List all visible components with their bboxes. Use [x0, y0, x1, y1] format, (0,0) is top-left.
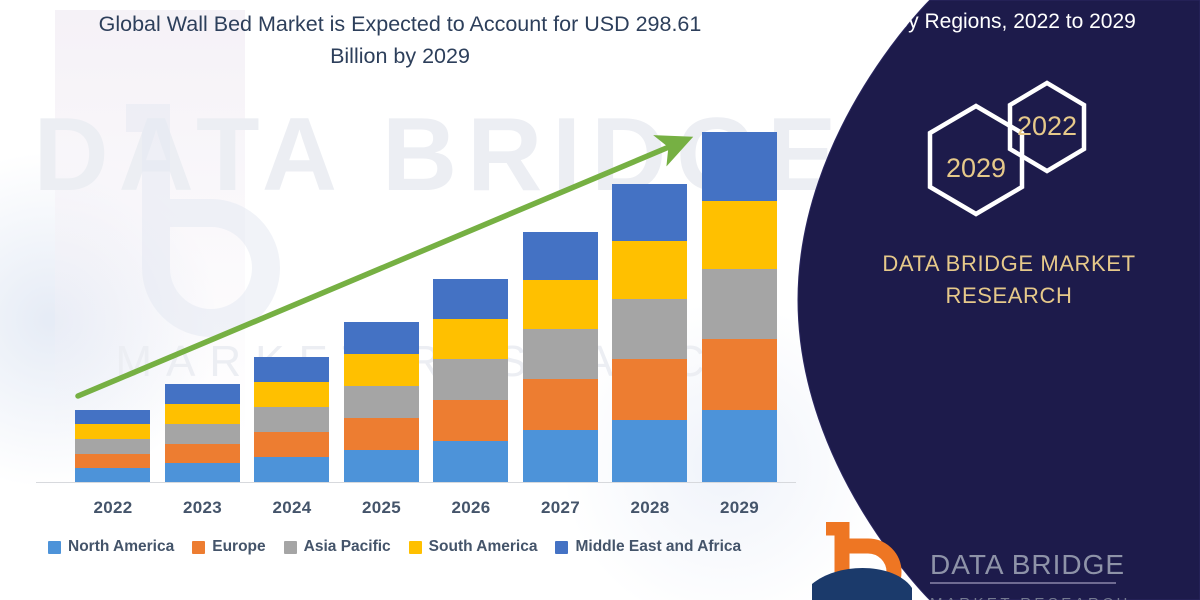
- legend-swatch-icon: [48, 541, 61, 554]
- legend-swatch-icon: [409, 541, 422, 554]
- bar-segment-europe[interactable]: [75, 454, 150, 468]
- bar-segment-europe[interactable]: [344, 418, 419, 450]
- bar-2028[interactable]: [612, 184, 687, 482]
- bar-segment-europe[interactable]: [523, 379, 598, 430]
- bar-2024[interactable]: [254, 357, 329, 482]
- bar-segment-europe[interactable]: [254, 432, 329, 457]
- bar-segment-europe[interactable]: [702, 339, 777, 410]
- legend-item-south-america[interactable]: South America: [409, 538, 538, 556]
- brand-name-line-2: RESEARCH: [826, 280, 1192, 312]
- bar-segment-north-america[interactable]: [344, 450, 419, 482]
- x-axis-label-2029: 2029: [685, 498, 795, 518]
- bar-2025[interactable]: [344, 322, 419, 482]
- bar-segment-south-america[interactable]: [702, 201, 777, 269]
- brand-panel: Global Wall Bed Market, By Regions, 2022…: [780, 0, 1200, 600]
- corner-logo-line-1: DATA BRIDGE: [930, 549, 1125, 580]
- bar-segment-europe[interactable]: [612, 359, 687, 420]
- bar-segment-middle-east-and-africa[interactable]: [75, 410, 150, 424]
- bar-segment-middle-east-and-africa[interactable]: [254, 357, 329, 382]
- legend-item-north-america[interactable]: North America: [48, 538, 174, 556]
- corner-logo: DATA BRIDGE MARKET RESEARCH: [808, 522, 1138, 600]
- legend-label: Europe: [212, 538, 265, 556]
- bar-segment-middle-east-and-africa[interactable]: [433, 279, 508, 319]
- bar-segment-middle-east-and-africa[interactable]: [523, 232, 598, 280]
- bar-segment-north-america[interactable]: [75, 468, 150, 482]
- bar-segment-asia-pacific[interactable]: [75, 439, 150, 454]
- bar-segment-asia-pacific[interactable]: [433, 359, 508, 400]
- bar-segment-asia-pacific[interactable]: [254, 407, 329, 432]
- bar-segment-middle-east-and-africa[interactable]: [702, 132, 777, 201]
- bar-segment-south-america[interactable]: [433, 319, 508, 359]
- brand-name: DATA BRIDGE MARKET RESEARCH: [826, 248, 1192, 312]
- bar-segment-middle-east-and-africa[interactable]: [612, 184, 687, 241]
- hexagon-large-label: 2029: [946, 153, 1006, 183]
- bar-2023[interactable]: [165, 384, 240, 482]
- legend-item-asia-pacific[interactable]: Asia Pacific: [284, 538, 391, 556]
- legend-swatch-icon: [284, 541, 297, 554]
- bar-segment-north-america[interactable]: [165, 463, 240, 482]
- bar-segment-asia-pacific[interactable]: [344, 386, 419, 418]
- logo-rule: [930, 582, 1116, 584]
- legend-label: Asia Pacific: [304, 538, 391, 556]
- brand-name-line-1: DATA BRIDGE MARKET: [826, 248, 1192, 280]
- legend-label: Middle East and Africa: [575, 538, 741, 556]
- bar-segment-north-america[interactable]: [612, 420, 687, 482]
- bar-segment-south-america[interactable]: [165, 404, 240, 424]
- hexagon-small-label: 2022: [1017, 111, 1077, 141]
- legend-swatch-icon: [555, 541, 568, 554]
- bar-segment-asia-pacific[interactable]: [702, 269, 777, 339]
- legend-label: South America: [429, 538, 538, 556]
- legend-item-europe[interactable]: Europe: [192, 538, 265, 556]
- bar-segment-north-america[interactable]: [523, 430, 598, 482]
- corner-logo-line-2: MARKET RESEARCH: [930, 595, 1131, 600]
- chart-plot-area: 20222023202420252026202720282029: [0, 0, 880, 600]
- bar-segment-asia-pacific[interactable]: [165, 424, 240, 444]
- bar-segment-asia-pacific[interactable]: [523, 329, 598, 379]
- bar-segment-north-america[interactable]: [254, 457, 329, 482]
- bar-segment-south-america[interactable]: [612, 241, 687, 299]
- bar-2029[interactable]: [702, 132, 777, 482]
- bar-2022[interactable]: [75, 410, 150, 482]
- bar-segment-north-america[interactable]: [702, 410, 777, 482]
- bar-segment-europe[interactable]: [165, 444, 240, 463]
- bar-segment-south-america[interactable]: [254, 382, 329, 407]
- bar-segment-europe[interactable]: [433, 400, 508, 441]
- bar-segment-north-america[interactable]: [433, 441, 508, 482]
- bar-2027[interactable]: [523, 232, 598, 482]
- x-axis-line: [36, 482, 796, 483]
- bar-segment-south-america[interactable]: [344, 354, 419, 386]
- legend-label: North America: [68, 538, 174, 556]
- bar-segment-middle-east-and-africa[interactable]: [165, 384, 240, 404]
- legend-swatch-icon: [192, 541, 205, 554]
- bar-segment-middle-east-and-africa[interactable]: [344, 322, 419, 354]
- bar-segment-south-america[interactable]: [75, 424, 150, 439]
- bar-2026[interactable]: [433, 279, 508, 482]
- chart-legend: North AmericaEuropeAsia PacificSouth Ame…: [48, 538, 741, 556]
- bar-segment-asia-pacific[interactable]: [612, 299, 687, 359]
- legend-item-middle-east-and-africa[interactable]: Middle East and Africa: [555, 538, 741, 556]
- infographic-canvas: DATA BRIDGE MARKET RESEARCH Global Wall …: [0, 0, 1200, 600]
- bar-segment-south-america[interactable]: [523, 280, 598, 329]
